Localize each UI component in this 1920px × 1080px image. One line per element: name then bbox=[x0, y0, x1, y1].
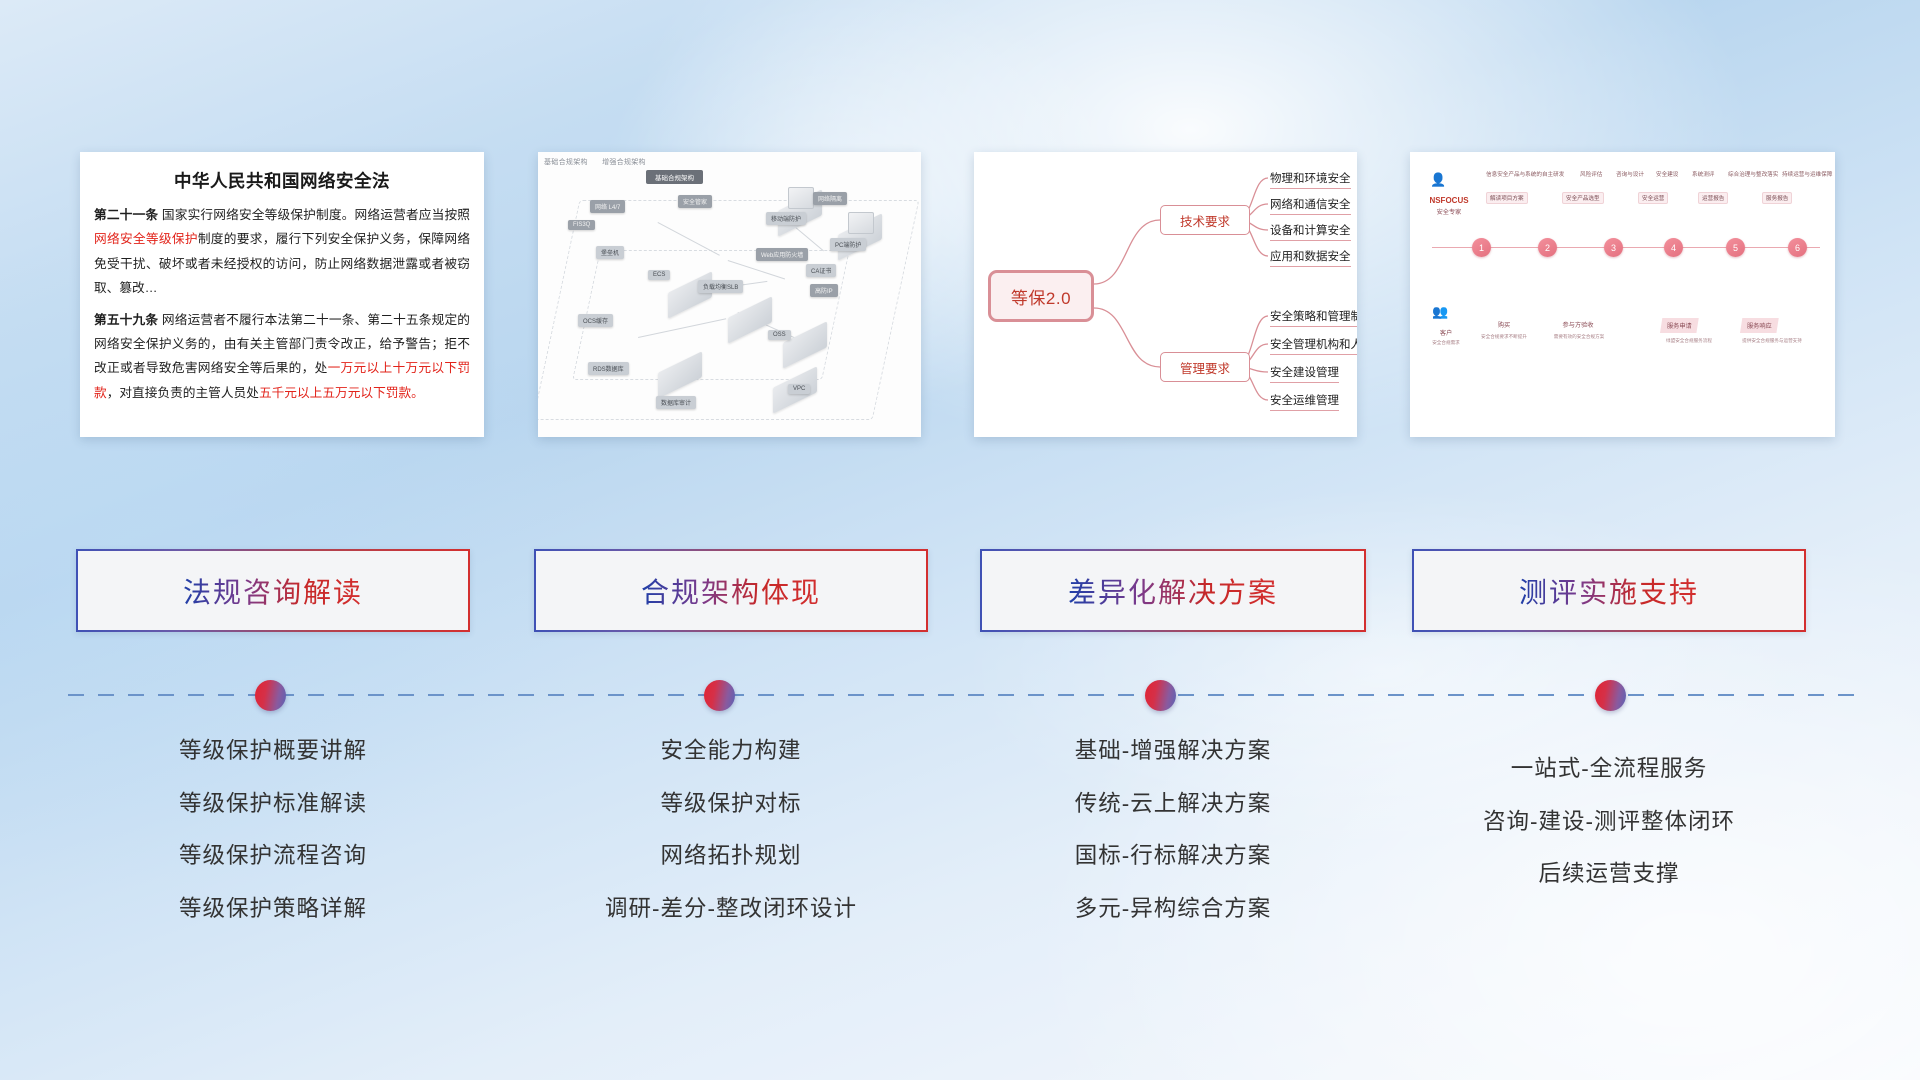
section-label-text-1: 法规咨询解读 bbox=[183, 571, 363, 611]
list-item: 一站式-全流程服务 bbox=[1412, 758, 1806, 781]
section-list-4: 一站式-全流程服务 咨询-建设-测评整体闭环 后续运营支撑 bbox=[1412, 758, 1806, 916]
timeline-dot-1[interactable] bbox=[255, 680, 286, 711]
section-label-box-3[interactable]: 差异化解决方案 bbox=[980, 549, 1366, 632]
section-label-text-2: 合规架构体现 bbox=[641, 571, 821, 611]
list-item: 调研-差分-整改闭环设计 bbox=[534, 898, 928, 921]
list-item: 国标-行标解决方案 bbox=[980, 845, 1366, 868]
section-list-2: 安全能力构建 等级保护对标 网络拓扑规划 调研-差分-整改闭环设计 bbox=[534, 740, 928, 950]
section-label-box-2[interactable]: 合规架构体现 bbox=[534, 549, 928, 632]
timeline-dot-4[interactable] bbox=[1595, 680, 1626, 711]
list-item: 等级保护流程咨询 bbox=[76, 845, 470, 868]
list-item: 基础-增强解决方案 bbox=[980, 740, 1366, 763]
timeline-dot-3[interactable] bbox=[1145, 680, 1176, 711]
list-item: 传统-云上解决方案 bbox=[980, 793, 1366, 816]
list-item: 咨询-建设-测评整体闭环 bbox=[1412, 811, 1806, 834]
list-item: 等级保护策略详解 bbox=[76, 898, 470, 921]
list-item: 等级保护标准解读 bbox=[76, 793, 470, 816]
list-item: 网络拓扑规划 bbox=[534, 845, 928, 868]
list-item: 安全能力构建 bbox=[534, 740, 928, 763]
section-label-box-4[interactable]: 测评实施支持 bbox=[1412, 549, 1806, 632]
section-label-text-4: 测评实施支持 bbox=[1519, 571, 1699, 611]
timeline-dot-2[interactable] bbox=[704, 680, 735, 711]
list-item: 多元-异构综合方案 bbox=[980, 898, 1366, 921]
section-list-3: 基础-增强解决方案 传统-云上解决方案 国标-行标解决方案 多元-异构综合方案 bbox=[980, 740, 1366, 950]
section-label-box-1[interactable]: 法规咨询解读 bbox=[76, 549, 470, 632]
section-label-text-3: 差异化解决方案 bbox=[1068, 571, 1278, 611]
list-item: 等级保护对标 bbox=[534, 793, 928, 816]
timeline-track bbox=[68, 694, 1854, 696]
list-item: 后续运营支撑 bbox=[1412, 863, 1806, 886]
list-item: 等级保护概要讲解 bbox=[76, 740, 470, 763]
section-list-1: 等级保护概要讲解 等级保护标准解读 等级保护流程咨询 等级保护策略详解 bbox=[76, 740, 470, 950]
